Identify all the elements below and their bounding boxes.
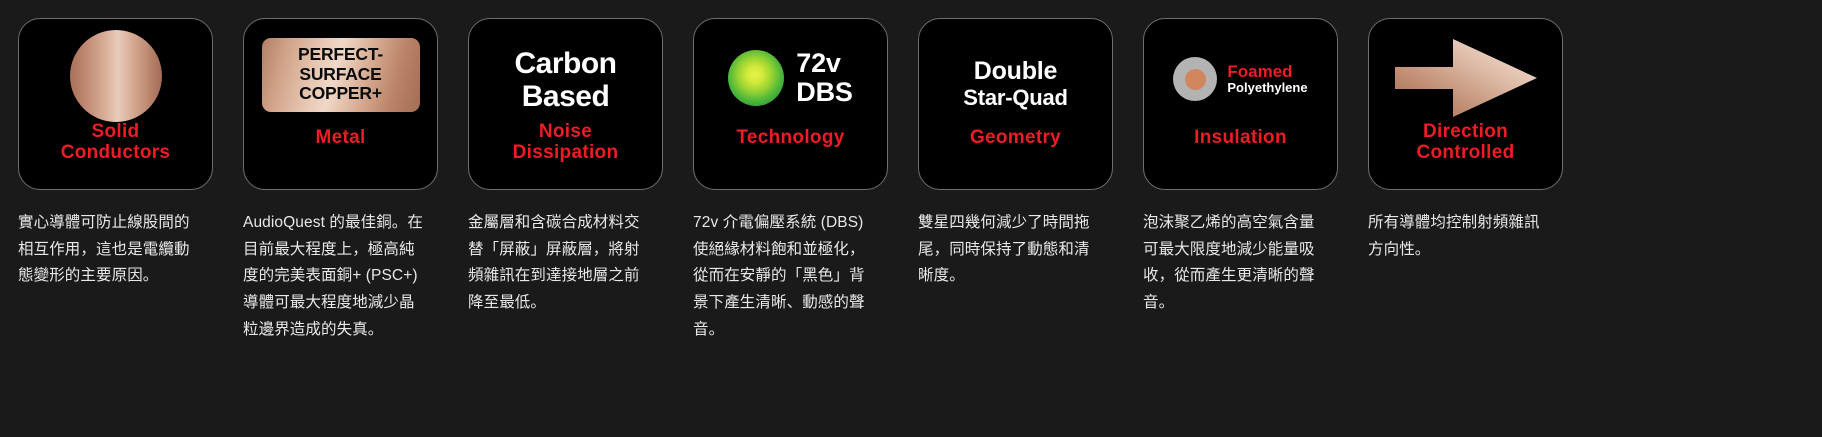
card-artwork: Double Star-Quad	[919, 19, 1112, 127]
plaque-line3: COPPER+	[272, 84, 410, 104]
wordmark-line2: Star-Quad	[963, 86, 1068, 110]
dbs-wordmark: 72v DBS	[796, 49, 852, 106]
feature-card-direction-controlled[interactable]: Direction Controlled	[1368, 18, 1563, 190]
card-label: Noise Dissipation	[469, 121, 662, 172]
card-description: 雙星四幾何減少了時間拖尾，同時保持了動態和清晰度。	[918, 210, 1103, 290]
plaque-line1: PERFECT-	[272, 45, 410, 65]
card-label: Metal	[244, 127, 437, 156]
card-artwork	[19, 19, 212, 127]
wordmark-line1: Foamed	[1227, 62, 1307, 81]
card-artwork: 72v DBS	[694, 19, 887, 127]
card-label-line1: Technology	[736, 127, 844, 148]
feature-column: Foamed Polyethylene Insulation 泡沫聚乙烯的高空氣…	[1143, 18, 1368, 317]
foamed-wordmark: Foamed Polyethylene	[1227, 62, 1307, 96]
card-description: 所有導體均控制射頻雜訊方向性。	[1368, 210, 1553, 263]
card-description: 實心導體可防止線股間的相互作用，這也是電纜動態變形的主要原因。	[18, 210, 203, 290]
green-orb-icon	[728, 50, 784, 106]
card-artwork	[1369, 19, 1562, 127]
wordmark-line1: Double	[963, 58, 1068, 86]
card-description: 金屬層和含碳合成材料交替「屏蔽」屏蔽層，將射頻雜訊在到達接地層之前降至最低。	[468, 210, 653, 317]
feature-column: Direction Controlled 所有導體均控制射頻雜訊方向性。	[1368, 18, 1593, 263]
wordmark-line1: Carbon	[515, 47, 617, 80]
card-description: 泡沫聚乙烯的高空氣含量可最大限度地減少能量吸收，從而產生更清晰的聲音。	[1143, 210, 1328, 317]
carbon-based-wordmark-icon: Carbon Based	[515, 47, 617, 113]
feature-card-insulation[interactable]: Foamed Polyethylene Insulation	[1143, 18, 1338, 190]
foamed-polyethylene-cross-section-icon: Foamed Polyethylene	[1167, 57, 1313, 101]
wordmark-line2: DBS	[796, 77, 852, 107]
card-artwork: Carbon Based	[469, 19, 662, 127]
card-label-line1: Insulation	[1194, 127, 1287, 148]
feature-card-noise-dissipation[interactable]: Carbon Based Noise Dissipation	[468, 18, 663, 190]
card-label: Direction Controlled	[1369, 121, 1562, 172]
card-label-line1: Direction	[1423, 121, 1508, 142]
card-label-line2: Conductors	[61, 142, 171, 163]
card-label-line2: Controlled	[1417, 142, 1515, 163]
plaque-line2: SURFACE	[272, 65, 410, 85]
feature-column: Solid Conductors 實心導體可防止線股間的相互作用，這也是電纜動態…	[18, 18, 243, 290]
wordmark-line2: Polyethylene	[1227, 81, 1307, 96]
feature-card-metal[interactable]: PERFECT- SURFACE COPPER+ Metal	[243, 18, 438, 190]
card-label: Solid Conductors	[19, 121, 212, 172]
double-star-quad-wordmark-icon: Double Star-Quad	[963, 58, 1068, 110]
green-orb-72v-dbs-icon: 72v DBS	[728, 49, 852, 106]
solid-copper-circle-icon	[70, 30, 162, 122]
feature-card-technology[interactable]: 72v DBS Technology	[693, 18, 888, 190]
card-label-line1: Noise	[539, 121, 592, 142]
card-label-line1: Solid	[92, 121, 140, 142]
card-label: Insulation	[1144, 127, 1337, 156]
perfect-surface-copper-plaque-icon: PERFECT- SURFACE COPPER+	[262, 38, 420, 112]
feature-column: 72v DBS Technology 72v 介電偏壓系統 (DBS) 使絕緣材…	[693, 18, 918, 343]
card-label-line1: Geometry	[970, 127, 1061, 148]
insulation-ring-icon	[1173, 57, 1217, 101]
feature-card-geometry[interactable]: Double Star-Quad Geometry	[918, 18, 1113, 190]
wordmark-line2: Based	[515, 80, 617, 113]
card-description: 72v 介電偏壓系統 (DBS) 使絕緣材料飽和並極化，從而在安靜的「黑色」背景…	[693, 210, 878, 343]
card-label-line1: Metal	[315, 127, 365, 148]
card-artwork: Foamed Polyethylene	[1144, 19, 1337, 127]
card-description: AudioQuest 的最佳銅。在目前最大程度上，極高純度的完美表面銅+ (PS…	[243, 210, 428, 343]
wordmark-line1: 72v	[796, 48, 840, 78]
direction-arrow-icon	[1391, 35, 1541, 121]
feature-card-grid: Solid Conductors 實心導體可防止線股間的相互作用，這也是電纜動態…	[0, 0, 1822, 343]
card-label-line2: Dissipation	[513, 142, 619, 163]
feature-column: PERFECT- SURFACE COPPER+ Metal AudioQues…	[243, 18, 468, 343]
conductor-core-icon	[1185, 69, 1206, 90]
feature-column: Carbon Based Noise Dissipation 金屬層和含碳合成材…	[468, 18, 693, 317]
card-label: Geometry	[919, 127, 1112, 156]
feature-card-solid-conductors[interactable]: Solid Conductors	[18, 18, 213, 190]
card-artwork: PERFECT- SURFACE COPPER+	[244, 19, 437, 127]
feature-column: Double Star-Quad Geometry 雙星四幾何減少了時間拖尾，同…	[918, 18, 1143, 290]
card-label: Technology	[694, 127, 887, 156]
